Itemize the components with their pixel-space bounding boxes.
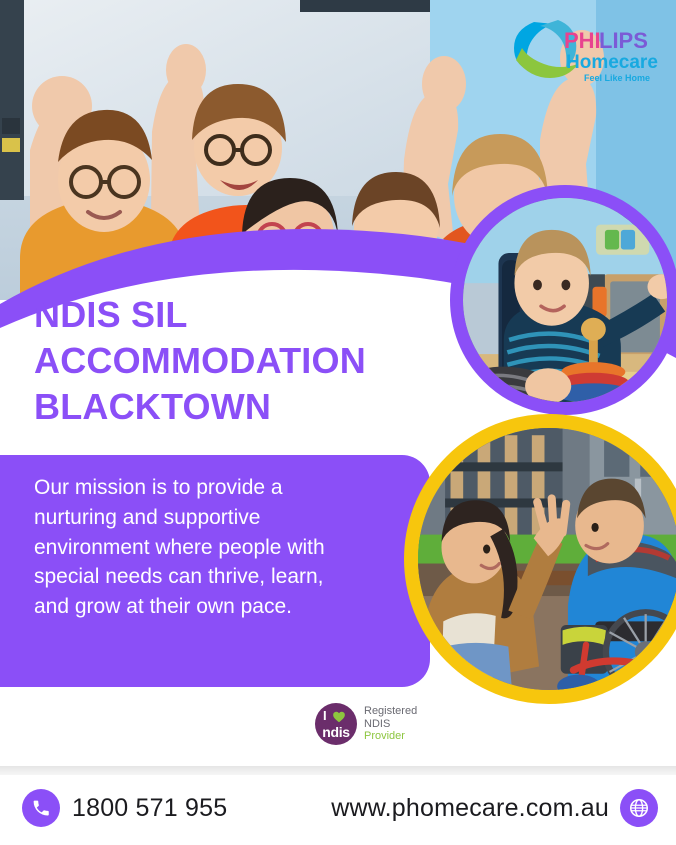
- brand-tagline: Feel Like Home: [584, 73, 650, 83]
- footer-website[interactable]: www.phomecare.com.au: [331, 789, 658, 827]
- website-url: www.phomecare.com.au: [331, 794, 609, 823]
- phone-icon: [22, 789, 60, 827]
- mission-text: Our mission is to provide a nurturing an…: [34, 473, 364, 622]
- heart-icon: [332, 710, 346, 724]
- ndis-caption: Registered NDIS Provider: [364, 705, 417, 744]
- headline-line-1: NDIS SIL: [34, 292, 454, 338]
- phone-number: 1800 571 955: [72, 794, 227, 823]
- ndis-registered-provider-badge: I ndis Registered NDIS Provider: [315, 703, 417, 745]
- headline-line-2: ACCOMMODATION: [34, 338, 454, 384]
- ndis-caption-line-3: Provider: [364, 730, 417, 743]
- brand-name-part1: PHI: [564, 28, 601, 53]
- mission-statement-block: Our mission is to provide a nurturing an…: [0, 455, 430, 687]
- poster: NDIS SIL ACCOMMODATION BLACKTOWN Our mis…: [0, 0, 676, 845]
- ndis-caption-line-2: NDIS: [364, 718, 417, 731]
- page-title: NDIS SIL ACCOMMODATION BLACKTOWN: [34, 292, 454, 430]
- brand-name-part2: LIPS: [599, 28, 648, 53]
- ndis-letter-i: I: [323, 709, 327, 722]
- ndis-wordmark: ndis: [315, 725, 357, 739]
- globe-icon: [620, 789, 658, 827]
- headline-line-3: BLACKTOWN: [34, 384, 454, 430]
- ndis-caption-line-1: Registered: [364, 705, 417, 718]
- brand-logo: PHI LIPS Homecare Feel Like Home: [506, 16, 658, 88]
- circle-photo-child-with-toy: [450, 185, 676, 415]
- brand-name-line2: Homecare: [566, 52, 658, 73]
- footer-phone[interactable]: 1800 571 955: [22, 789, 227, 827]
- ndis-logo-mark: I ndis: [315, 703, 357, 745]
- circle-photo-high-five: [404, 414, 676, 704]
